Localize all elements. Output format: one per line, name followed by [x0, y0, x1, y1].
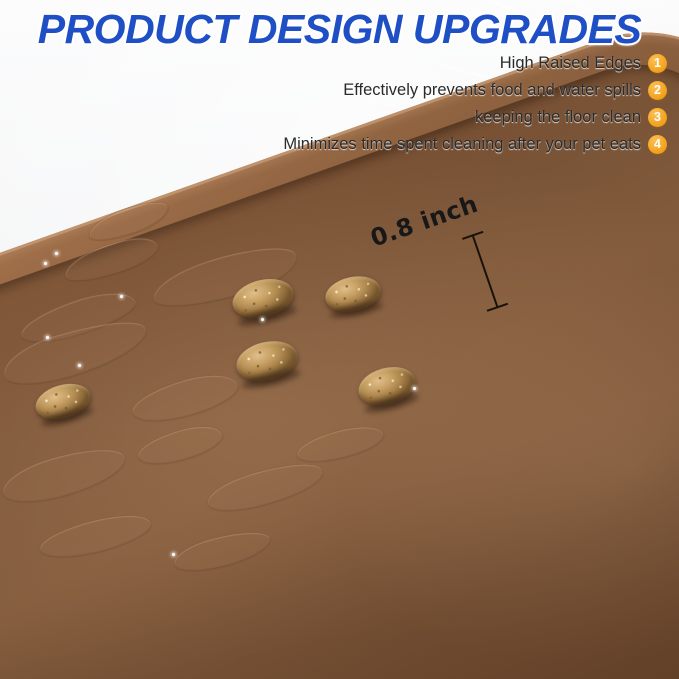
feature-list: High Raised Edges 1 Effectively prevents… — [283, 52, 667, 160]
number-badge-icon: 2 — [648, 81, 667, 100]
feature-item: keeping the floor clean 3 — [283, 106, 667, 128]
number-badge-icon: 3 — [648, 108, 667, 127]
feature-label: keeping the floor clean — [475, 108, 641, 127]
number-badge-icon: 4 — [648, 135, 667, 154]
page-title: PRODUCT DESIGN UPGRADES — [0, 6, 679, 53]
feature-item: High Raised Edges 1 — [283, 52, 667, 74]
feature-label: Effectively prevents food and water spil… — [343, 81, 641, 100]
feature-item: Effectively prevents food and water spil… — [283, 79, 667, 101]
number-badge-icon: 1 — [648, 54, 667, 73]
product-marketing-image: 0.8 inch PRODUCT DESIGN UPGRADES High Ra… — [0, 0, 679, 679]
feature-item: Minimizes time spent cleaning after your… — [283, 133, 667, 155]
feature-label: High Raised Edges — [500, 54, 641, 73]
feature-label: Minimizes time spent cleaning after your… — [283, 135, 641, 154]
